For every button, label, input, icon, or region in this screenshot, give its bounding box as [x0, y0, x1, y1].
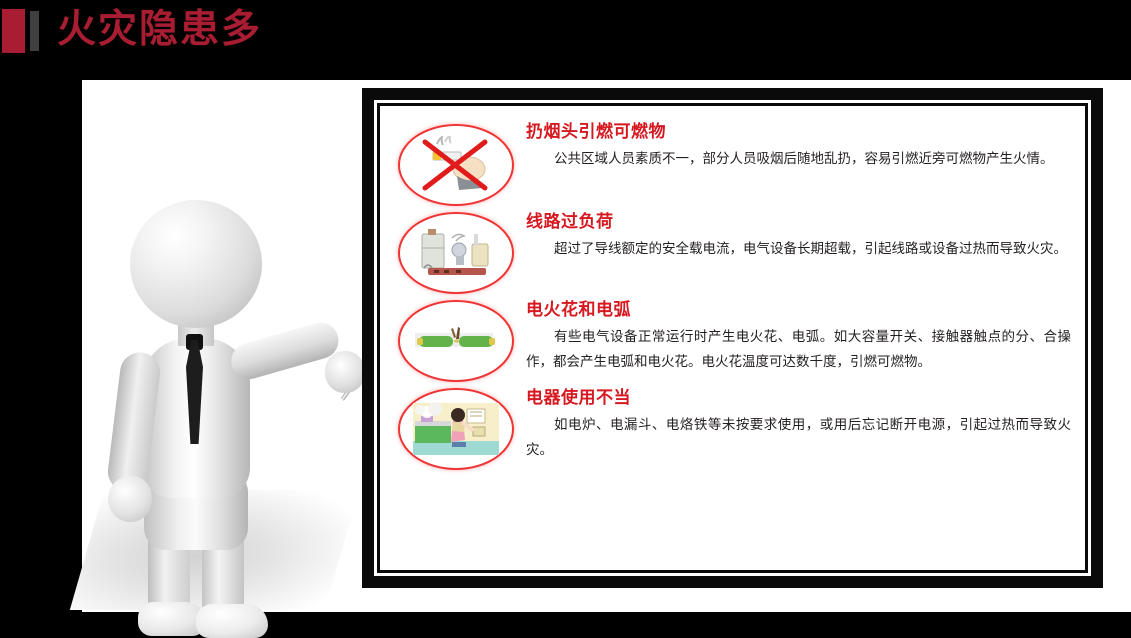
- hazard-title: 电火花和电弧: [526, 298, 1071, 322]
- hazard-title: 电器使用不当: [526, 386, 1071, 410]
- figure-hand-left: [108, 476, 152, 522]
- hazard-icon-cell: [398, 296, 518, 382]
- hazard-text-cell: 线路过负荷 超过了导线额定的安全载电流，电气设备长期超载，引起线路或设备过热而导…: [518, 208, 1071, 262]
- hazard-text-cell: 电器使用不当 如电炉、电漏斗、电烙铁等未按要求使用，或用后忘记断开电源，引起过热…: [518, 384, 1071, 463]
- hazard-icon-cell: [398, 120, 518, 206]
- list-item: 线路过负荷 超过了导线额定的安全载电流，电气设备长期超载，引起线路或设备过热而导…: [398, 208, 1071, 294]
- list-item: 电器使用不当 如电炉、电漏斗、电烙铁等未按要求使用，或用后忘记断开电源，引起过热…: [398, 384, 1071, 470]
- figure-head: [130, 200, 262, 328]
- header-accent-bar-red: [2, 9, 25, 53]
- hazard-title: 扔烟头引燃可燃物: [526, 120, 1071, 144]
- slide-header: 火灾隐患多: [0, 0, 1131, 80]
- hazard-icon-cell: [398, 208, 518, 294]
- slide-body: 扔烟头引燃可燃物 公共区域人员素质不一，部分人员吸烟后随地乱扔，容易引燃近旁可燃…: [82, 80, 1131, 612]
- hazard-text-cell: 电火花和电弧 有些电气设备正常运行时产生电火花、电弧。如大容量开关、接触器触点的…: [518, 296, 1071, 375]
- no-smoking-cigarette-icon: [398, 124, 514, 206]
- content-frame-inner-black: 扔烟头引燃可燃物 公共区域人员素质不一，部分人员吸烟后随地乱扔，容易引燃近旁可燃…: [377, 103, 1088, 573]
- hazard-body: 有些电气设备正常运行时产生电火花、电弧。如大容量开关、接触器触点的分、合操作，都…: [526, 325, 1071, 375]
- figure-shoe-right: [196, 604, 268, 638]
- hazard-title: 线路过负荷: [526, 210, 1071, 234]
- kitchen-appliance-misuse-icon: [398, 388, 514, 470]
- sparking-cable-icon: [398, 300, 514, 382]
- content-frame-inner-white: 扔烟头引燃可燃物 公共区域人员素质不一，部分人员吸烟后随地乱扔，容易引燃近旁可燃…: [374, 100, 1091, 576]
- presenter-figure-illustration: [82, 90, 367, 612]
- figure-hand-right: [325, 351, 365, 393]
- page-title: 火灾隐患多: [57, 5, 262, 55]
- hazard-text-cell: 扔烟头引燃可燃物 公共区域人员素质不一，部分人员吸烟后随地乱扔，容易引燃近旁可燃…: [518, 120, 1071, 172]
- hazard-body: 如电炉、电漏斗、电烙铁等未按要求使用，或用后忘记断开电源，引起过热而导致火灾。: [526, 413, 1071, 463]
- list-item: 扔烟头引燃可燃物 公共区域人员素质不一，部分人员吸烟后随地乱扔，容易引燃近旁可燃…: [398, 120, 1071, 206]
- hazard-icon-cell: [398, 384, 518, 470]
- header-accent-bar-gray: [30, 11, 39, 51]
- content-frame: 扔烟头引燃可燃物 公共区域人员素质不一，部分人员吸烟后随地乱扔，容易引燃近旁可燃…: [362, 88, 1103, 588]
- hazard-list: 扔烟头引燃可燃物 公共区域人员素质不一，部分人员吸烟后随地乱扔，容易引燃近旁可燃…: [380, 106, 1085, 570]
- list-item: 电火花和电弧 有些电气设备正常运行时产生电火花、电弧。如大容量开关、接触器触点的…: [398, 296, 1071, 382]
- hazard-body: 超过了导线额定的安全载电流，电气设备长期超载，引起线路或设备过热而导致火灾。: [526, 237, 1071, 262]
- hazard-body: 公共区域人员素质不一，部分人员吸烟后随地乱扔，容易引燃近旁可燃物产生火情。: [526, 147, 1071, 172]
- overloaded-power-strip-icon: [398, 212, 514, 294]
